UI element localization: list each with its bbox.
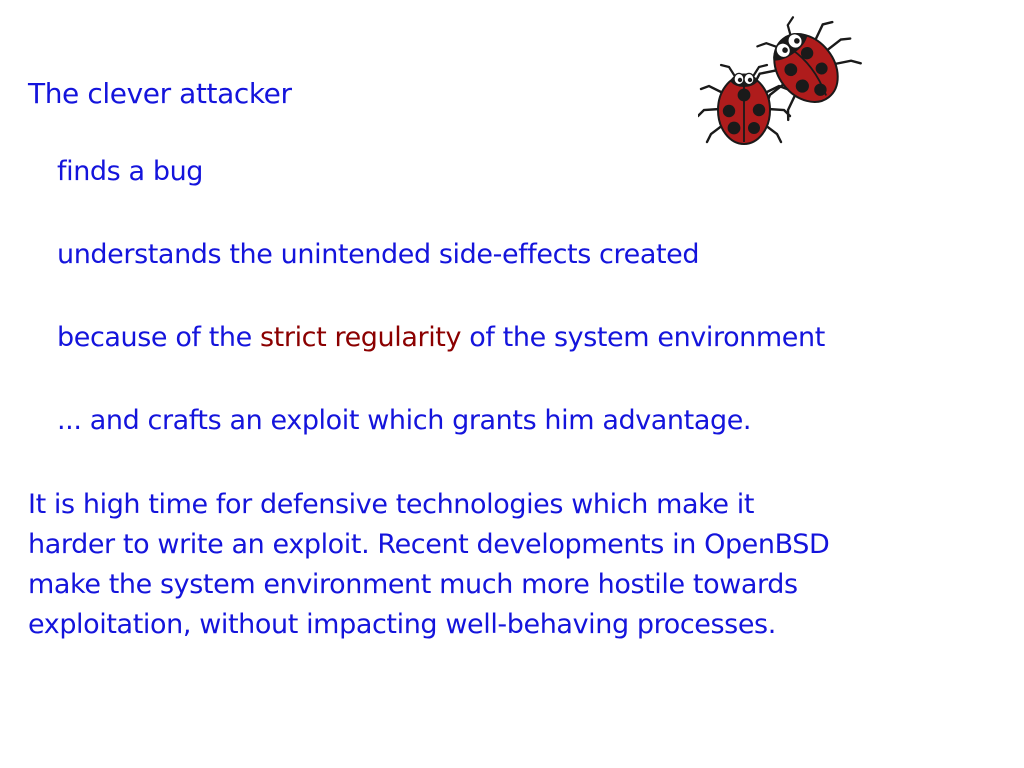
ladybug-icon [698, 12, 864, 158]
bullet-3-prefix: because of the [57, 322, 260, 353]
bullet-3-highlight: strict regularity [260, 322, 461, 353]
paragraph-line-2: harder to write an exploit. Recent devel… [28, 525, 908, 565]
bullet-item-1: finds a bug [57, 158, 203, 185]
bullet-item-3: because of the strict regularity of the … [57, 324, 825, 351]
closing-paragraph: It is high time for defensive technologi… [28, 485, 908, 645]
paragraph-line-4: exploitation, without impacting well-beh… [28, 605, 908, 645]
slide-title: The clever attacker [28, 80, 292, 108]
paragraph-line-1: It is high time for defensive technologi… [28, 485, 908, 525]
bullet-item-4: ... and crafts an exploit which grants h… [57, 407, 751, 434]
paragraph-line-3: make the system environment much more ho… [28, 565, 908, 605]
ladybug-illustration [698, 12, 864, 158]
slide-canvas: The clever attacker finds a bug understa… [0, 0, 1024, 768]
bullet-3-suffix: of the system environment [461, 322, 825, 353]
ladybug-upright [698, 65, 790, 144]
bullet-item-2: understands the unintended side-effects … [57, 241, 699, 268]
